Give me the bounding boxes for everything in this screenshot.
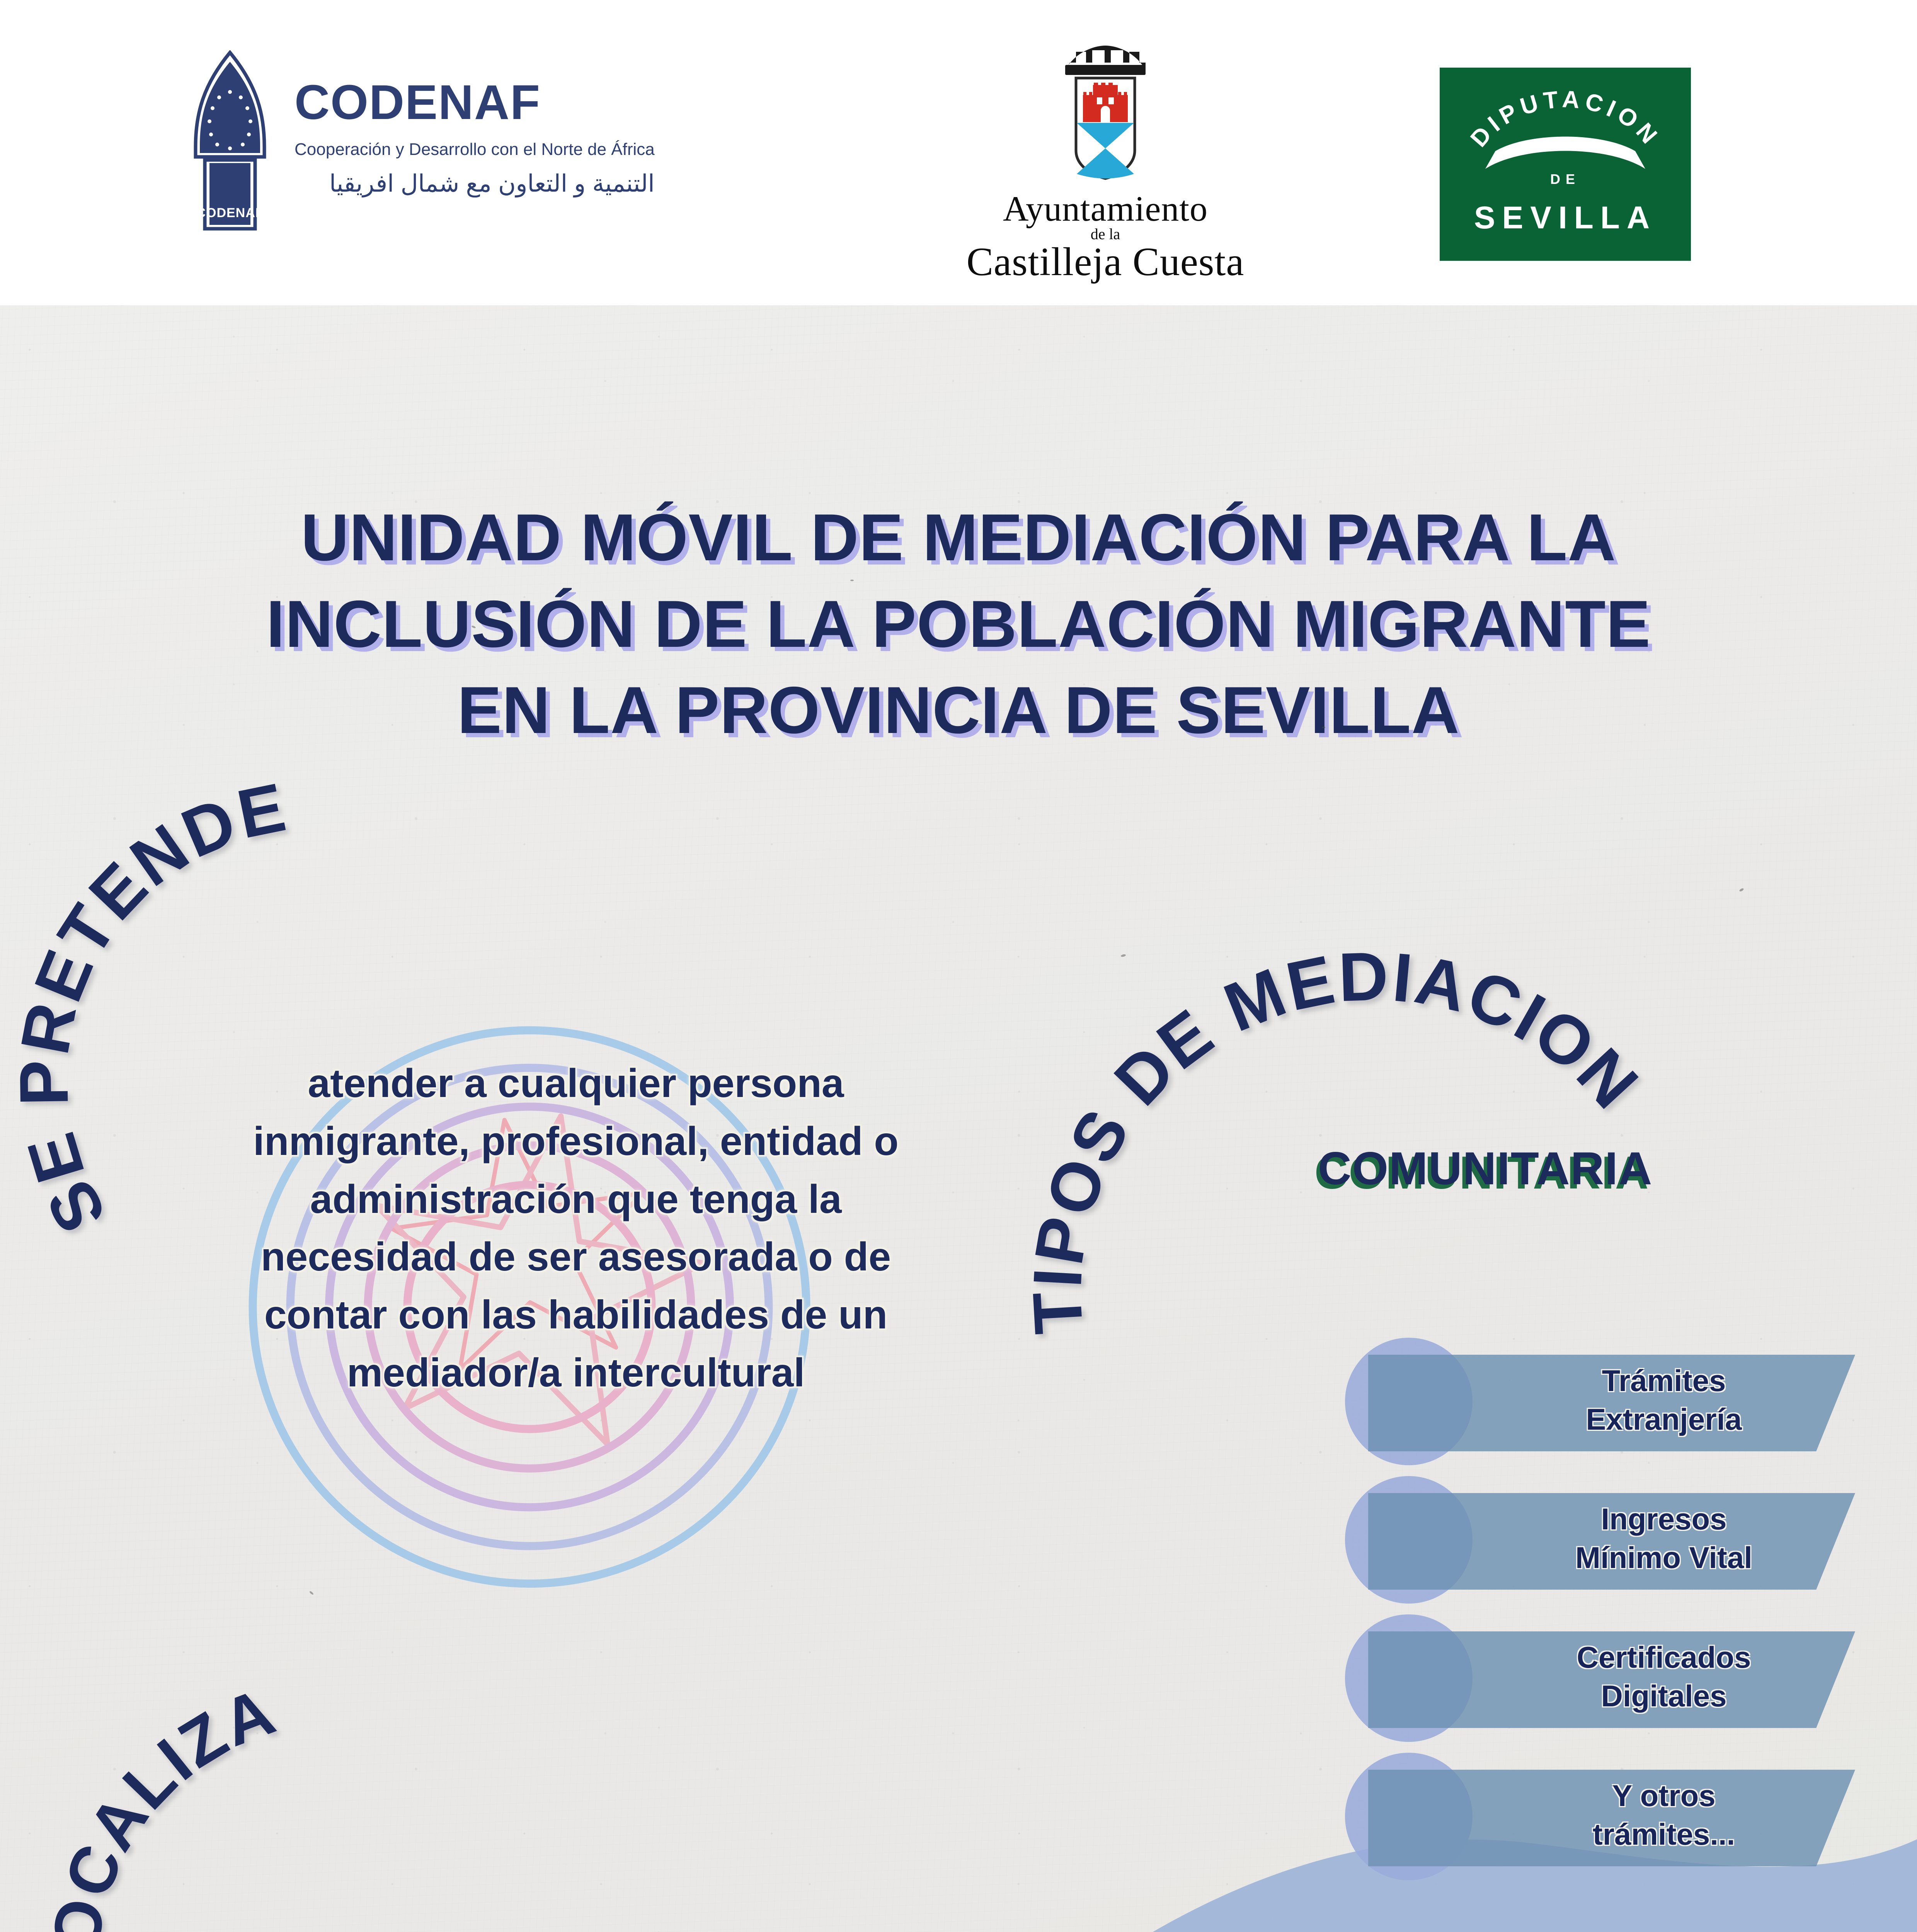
codenaf-tagline: Cooperación y Desarrollo con el Norte de…	[295, 140, 655, 159]
list-item[interactable]: Y otrostrámites...	[1345, 1760, 1859, 1876]
list-item-label: Y otrostrámites...	[1511, 1777, 1817, 1854]
tipos-mediacion-label: TIPOS DE MEDIACION	[1018, 937, 1654, 1336]
logo-codenaf: CODENAF CODENAF Cooperación y Desarrollo…	[182, 50, 758, 259]
page-title: UNIDAD MÓVIL DE MEDIACIÓN PARA LA INCLUS…	[0, 495, 1917, 754]
list-item-label: CertificadosDigitales	[1511, 1638, 1817, 1716]
comunitaria-subheading: COMUNITARIA	[1318, 1142, 1782, 1195]
logo-diputacion-sevilla: DIPUTACION DE SEVILLA	[1440, 68, 1691, 261]
title-line-3: EN LA PROVINCIA DE SEVILLA	[0, 667, 1917, 754]
codenaf-name: CODENAF	[295, 78, 655, 127]
heading-se-localiza: SE LOCALIZA	[89, 1712, 669, 1932]
diputacion-sevilla: SEVILLA	[1440, 200, 1691, 236]
codenaf-tagline-arabic: التنمية و التعاون مع شمال افريقيا	[295, 169, 655, 197]
svg-text:CODENAF: CODENAF	[196, 206, 264, 220]
list-item-label: IngresosMínimo Vital	[1511, 1500, 1817, 1577]
list-item[interactable]: CertificadosDigitales	[1345, 1621, 1859, 1737]
list-item[interactable]: IngresosMínimo Vital	[1345, 1483, 1859, 1599]
poster-root: CODENAF CODENAF Cooperación y Desarrollo…	[0, 0, 1917, 1932]
heading-tipos-de-mediacion: TIPOS DE MEDIACION	[1036, 850, 1693, 1410]
list-item[interactable]: TrámitesExtranjería	[1345, 1345, 1859, 1461]
logo-castilleja-cuesta: Ayuntamiento de la Castilleja Cuesta	[958, 35, 1252, 274]
title-line-1: UNIDAD MÓVIL DE MEDIACIÓN PARA LA	[0, 495, 1917, 581]
title-line-2: INCLUSIÓN DE LA POBLACIÓN MIGRANTE	[0, 581, 1917, 668]
diputacion-de: DE	[1440, 171, 1691, 187]
castilleja-crest-icon	[1028, 35, 1183, 189]
mediation-types-list: TrámitesExtranjería IngresosMínimo Vital…	[1345, 1345, 1859, 1898]
paper-fleck	[1322, 726, 1325, 728]
paper-fleck	[850, 580, 854, 581]
list-item-label: TrámitesExtranjería	[1511, 1362, 1817, 1439]
diputacion-arc-icon: DIPUTACION	[1440, 71, 1691, 176]
codenaf-emblem-icon: CODENAF	[182, 50, 278, 232]
svg-text:TIPOS DE MEDIACION: TIPOS DE MEDIACION	[1018, 937, 1654, 1336]
castilleja-municipality: Castilleja Cuesta	[958, 242, 1252, 282]
castilleja-ayuntamiento: Ayuntamiento	[958, 191, 1252, 226]
pretende-body-text: atender a cualquier persona inmigrante, …	[209, 1055, 943, 1402]
logo-header: CODENAF CODENAF Cooperación y Desarrollo…	[0, 0, 1917, 305]
